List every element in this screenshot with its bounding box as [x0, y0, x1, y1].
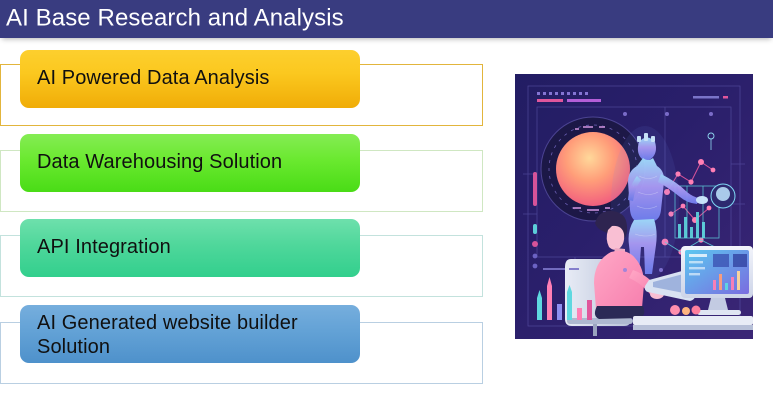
category-row-1: AI Powered Data Analysis — [0, 38, 484, 130]
category-chip-label: Data Warehousing Solution — [37, 151, 282, 175]
category-chip-data-warehousing-solution[interactable]: Data Warehousing Solution — [20, 134, 360, 192]
ai-illustration-artwork — [515, 74, 753, 339]
category-row-2: Data Warehousing Solution — [0, 122, 484, 214]
category-chip-label: AI Generated website builder Solution — [37, 312, 343, 359]
category-chip-label: AI Powered Data Analysis — [37, 67, 270, 91]
title-bar: AI Base Research and Analysis — [0, 0, 773, 38]
category-chip-ai-generated-website-builder-solution[interactable]: AI Generated website builder Solution — [20, 305, 360, 363]
category-row-4: AI Generated website builder Solution — [0, 292, 484, 397]
category-row-3: API Integration — [0, 207, 484, 299]
ai-data-analysis-illustration — [515, 74, 753, 339]
category-chip-api-integration[interactable]: API Integration — [20, 219, 360, 277]
page-title: AI Base Research and Analysis — [6, 4, 344, 32]
category-chip-ai-powered-data-analysis[interactable]: AI Powered Data Analysis — [20, 50, 360, 108]
category-chip-label: API Integration — [37, 236, 171, 260]
